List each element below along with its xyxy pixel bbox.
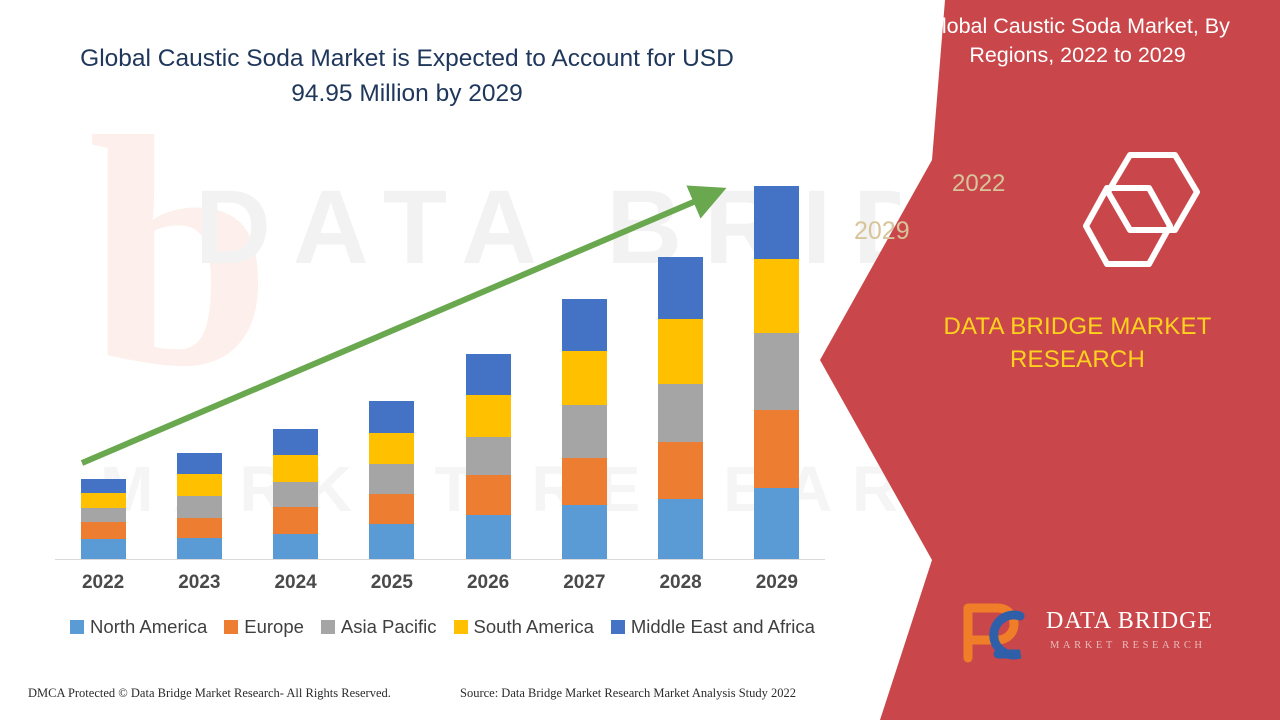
bar-column[interactable]	[369, 401, 414, 559]
bar-column[interactable]	[466, 354, 511, 559]
legend-label: North America	[90, 616, 207, 638]
legend-swatch-icon	[224, 620, 238, 634]
dbmr-logo-subtitle: MARKET RESEARCH	[1050, 640, 1206, 651]
bar-segment[interactable]	[177, 538, 222, 559]
x-axis-label: 2024	[256, 572, 336, 594]
bar-segment[interactable]	[658, 319, 703, 384]
legend-label: Asia Pacific	[341, 616, 437, 638]
legend-swatch-icon	[70, 620, 84, 634]
legend-item[interactable]: Middle East and Africa	[611, 616, 815, 638]
bar-segment[interactable]	[81, 539, 126, 559]
bar-segment[interactable]	[658, 442, 703, 499]
bar-column[interactable]	[177, 453, 222, 559]
legend-item[interactable]: North America	[70, 616, 207, 638]
dbmr-logo: DATA BRIDGE MARKET RESEARCH	[958, 602, 1218, 672]
x-axis-label: 2025	[352, 572, 432, 594]
bar-segment[interactable]	[273, 534, 318, 559]
legend-label: South America	[474, 616, 594, 638]
bar-segment[interactable]	[369, 494, 414, 524]
bar-segment[interactable]	[177, 474, 222, 496]
legend-label: Middle East and Africa	[631, 616, 815, 638]
footer-copyright: DMCA Protected © Data Bridge Market Rese…	[28, 686, 391, 701]
hexagon-2029-label: 2029	[854, 217, 910, 246]
bar-segment[interactable]	[466, 354, 511, 395]
dbmr-logo-mark-icon	[958, 602, 1038, 666]
bar-segment[interactable]	[754, 186, 799, 259]
bar-column[interactable]	[81, 479, 126, 559]
legend-item[interactable]: Asia Pacific	[321, 616, 437, 638]
bar-segment[interactable]	[273, 507, 318, 534]
bar-segment[interactable]	[369, 524, 414, 559]
bar-segment[interactable]	[81, 479, 126, 493]
bar-segment[interactable]	[81, 493, 126, 508]
bar-segment[interactable]	[369, 464, 414, 494]
legend-item[interactable]: South America	[454, 616, 594, 638]
legend-swatch-icon	[321, 620, 335, 634]
bar-segment[interactable]	[754, 488, 799, 559]
bar-segment[interactable]	[562, 458, 607, 505]
bar-segment[interactable]	[658, 499, 703, 559]
bar-segment[interactable]	[369, 433, 414, 464]
chart-title: Global Caustic Soda Market is Expected t…	[62, 42, 752, 112]
bar-column[interactable]	[754, 186, 799, 559]
dbmr-logo-name: DATA BRIDGE	[1046, 608, 1213, 635]
bar-segment[interactable]	[273, 429, 318, 455]
x-axis-label: 2028	[641, 572, 721, 594]
bar-segment[interactable]	[658, 384, 703, 442]
bar-segment[interactable]	[562, 505, 607, 559]
bar-segment[interactable]	[466, 475, 511, 515]
bar-segment[interactable]	[562, 405, 607, 458]
infographic-root: b DATA BRIDGE MARKET RESEARCH Global Cau…	[0, 0, 1280, 720]
bar-segment[interactable]	[754, 259, 799, 333]
bar-segment[interactable]	[466, 395, 511, 437]
bar-segment[interactable]	[81, 522, 126, 539]
legend-swatch-icon	[454, 620, 468, 634]
bar-segment[interactable]	[562, 351, 607, 405]
right-brand-panel: Global Caustic Soda Market, By Regions, …	[820, 0, 1280, 720]
hexagon-2022-label: 2022	[952, 170, 1005, 198]
bar-segment[interactable]	[81, 508, 126, 522]
bar-segment[interactable]	[658, 257, 703, 319]
x-axis-line	[55, 559, 825, 560]
legend-item[interactable]: Europe	[224, 616, 304, 638]
x-axis-label: 2026	[448, 572, 528, 594]
bar-segment[interactable]	[273, 482, 318, 507]
bar-segment[interactable]	[754, 333, 799, 410]
bar-column[interactable]	[562, 299, 607, 559]
x-axis-labels: 20222023202420252026202720282029	[55, 572, 825, 598]
bar-segment[interactable]	[177, 496, 222, 518]
legend-label: Europe	[244, 616, 304, 638]
brand-name: DATA BRIDGE MARKET RESEARCH	[910, 310, 1245, 376]
bar-segment[interactable]	[369, 401, 414, 433]
chart-legend: North AmericaEuropeAsia PacificSouth Ame…	[55, 616, 830, 638]
bar-segment[interactable]	[466, 437, 511, 475]
hexagon-badges	[1075, 150, 1275, 280]
panel-title: Global Caustic Soda Market, By Regions, …	[905, 12, 1250, 69]
bar-segment[interactable]	[754, 410, 799, 488]
legend-swatch-icon	[611, 620, 625, 634]
bar-segment[interactable]	[273, 455, 318, 482]
bar-column[interactable]	[273, 429, 318, 559]
bar-chart-plot	[55, 170, 825, 560]
bar-column[interactable]	[658, 257, 703, 559]
bar-segment[interactable]	[177, 518, 222, 538]
footer-source: Source: Data Bridge Market Research Mark…	[460, 686, 796, 701]
x-axis-label: 2027	[544, 572, 624, 594]
x-axis-label: 2023	[159, 572, 239, 594]
bar-segment[interactable]	[562, 299, 607, 351]
bar-segment[interactable]	[466, 515, 511, 559]
x-axis-label: 2029	[737, 572, 817, 594]
bar-segment[interactable]	[177, 453, 222, 474]
x-axis-label: 2022	[63, 572, 143, 594]
